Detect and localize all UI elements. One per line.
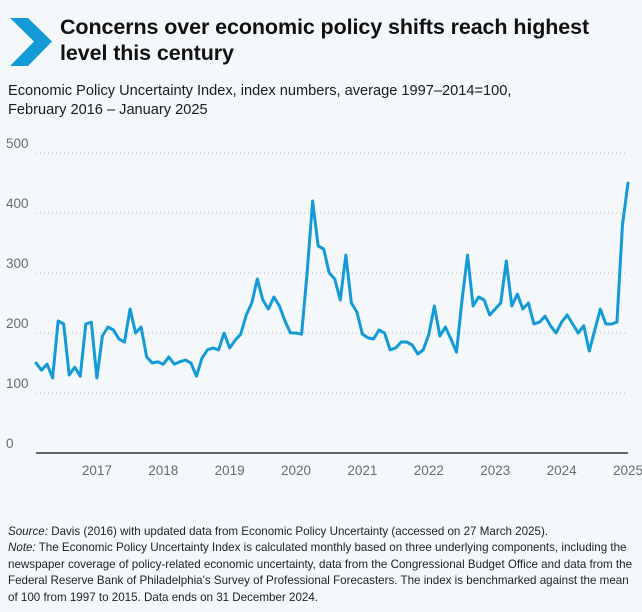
x-axis-tick-label: 2020 <box>281 463 311 478</box>
x-axis-tick-label: 2021 <box>347 463 377 478</box>
x-axis-tick-label: 2023 <box>480 463 510 478</box>
x-axis-tick-label: 2025 <box>613 463 642 478</box>
chart-header: Concerns over economic policy shifts rea… <box>0 0 642 68</box>
source-label: Source: <box>8 525 48 538</box>
source-text: Davis (2016) with updated data from Econ… <box>48 525 548 538</box>
line-chart: 0100200300400500 20172018201920202021202… <box>0 131 642 491</box>
note-text: The Economic Policy Uncertainty Index is… <box>8 541 632 603</box>
chart-area: 0100200300400500 20172018201920202021202… <box>0 131 642 491</box>
data-line-epu <box>36 183 628 378</box>
note-label: Note: <box>8 541 36 554</box>
y-axis-tick-label: 400 <box>6 196 29 211</box>
gridlines <box>36 153 628 393</box>
chart-page: Concerns over economic policy shifts rea… <box>0 0 642 612</box>
footnote-source: Source: Davis (2016) with updated data f… <box>8 524 636 540</box>
footnote-note: Note: The Economic Policy Uncertainty In… <box>8 540 636 606</box>
y-axis-tick-label: 200 <box>6 316 29 331</box>
y-axis-tick-label: 300 <box>6 256 29 271</box>
x-axis-tick-label: 2019 <box>215 463 245 478</box>
title-block: Concerns over economic policy shifts rea… <box>60 12 628 66</box>
chart-subtitle: Economic Policy Uncertainty Index, index… <box>8 82 642 121</box>
x-axis-tick-label: 2018 <box>148 463 178 478</box>
y-axis-labels: 0100200300400500 <box>6 136 29 451</box>
x-axis-tick-label: 2022 <box>414 463 444 478</box>
y-axis-tick-label: 0 <box>6 436 14 451</box>
x-axis-tick-label: 2024 <box>547 463 578 478</box>
x-axis-tick-label: 2017 <box>82 463 112 478</box>
y-axis-tick-label: 500 <box>6 136 29 151</box>
x-axis-labels: 201720182019202020212022202320242025 <box>82 463 642 478</box>
chevron-right-icon <box>8 16 54 68</box>
y-axis-tick-label: 100 <box>6 376 29 391</box>
footnotes: Source: Davis (2016) with updated data f… <box>8 524 636 606</box>
page-title: Concerns over economic policy shifts rea… <box>60 14 628 66</box>
